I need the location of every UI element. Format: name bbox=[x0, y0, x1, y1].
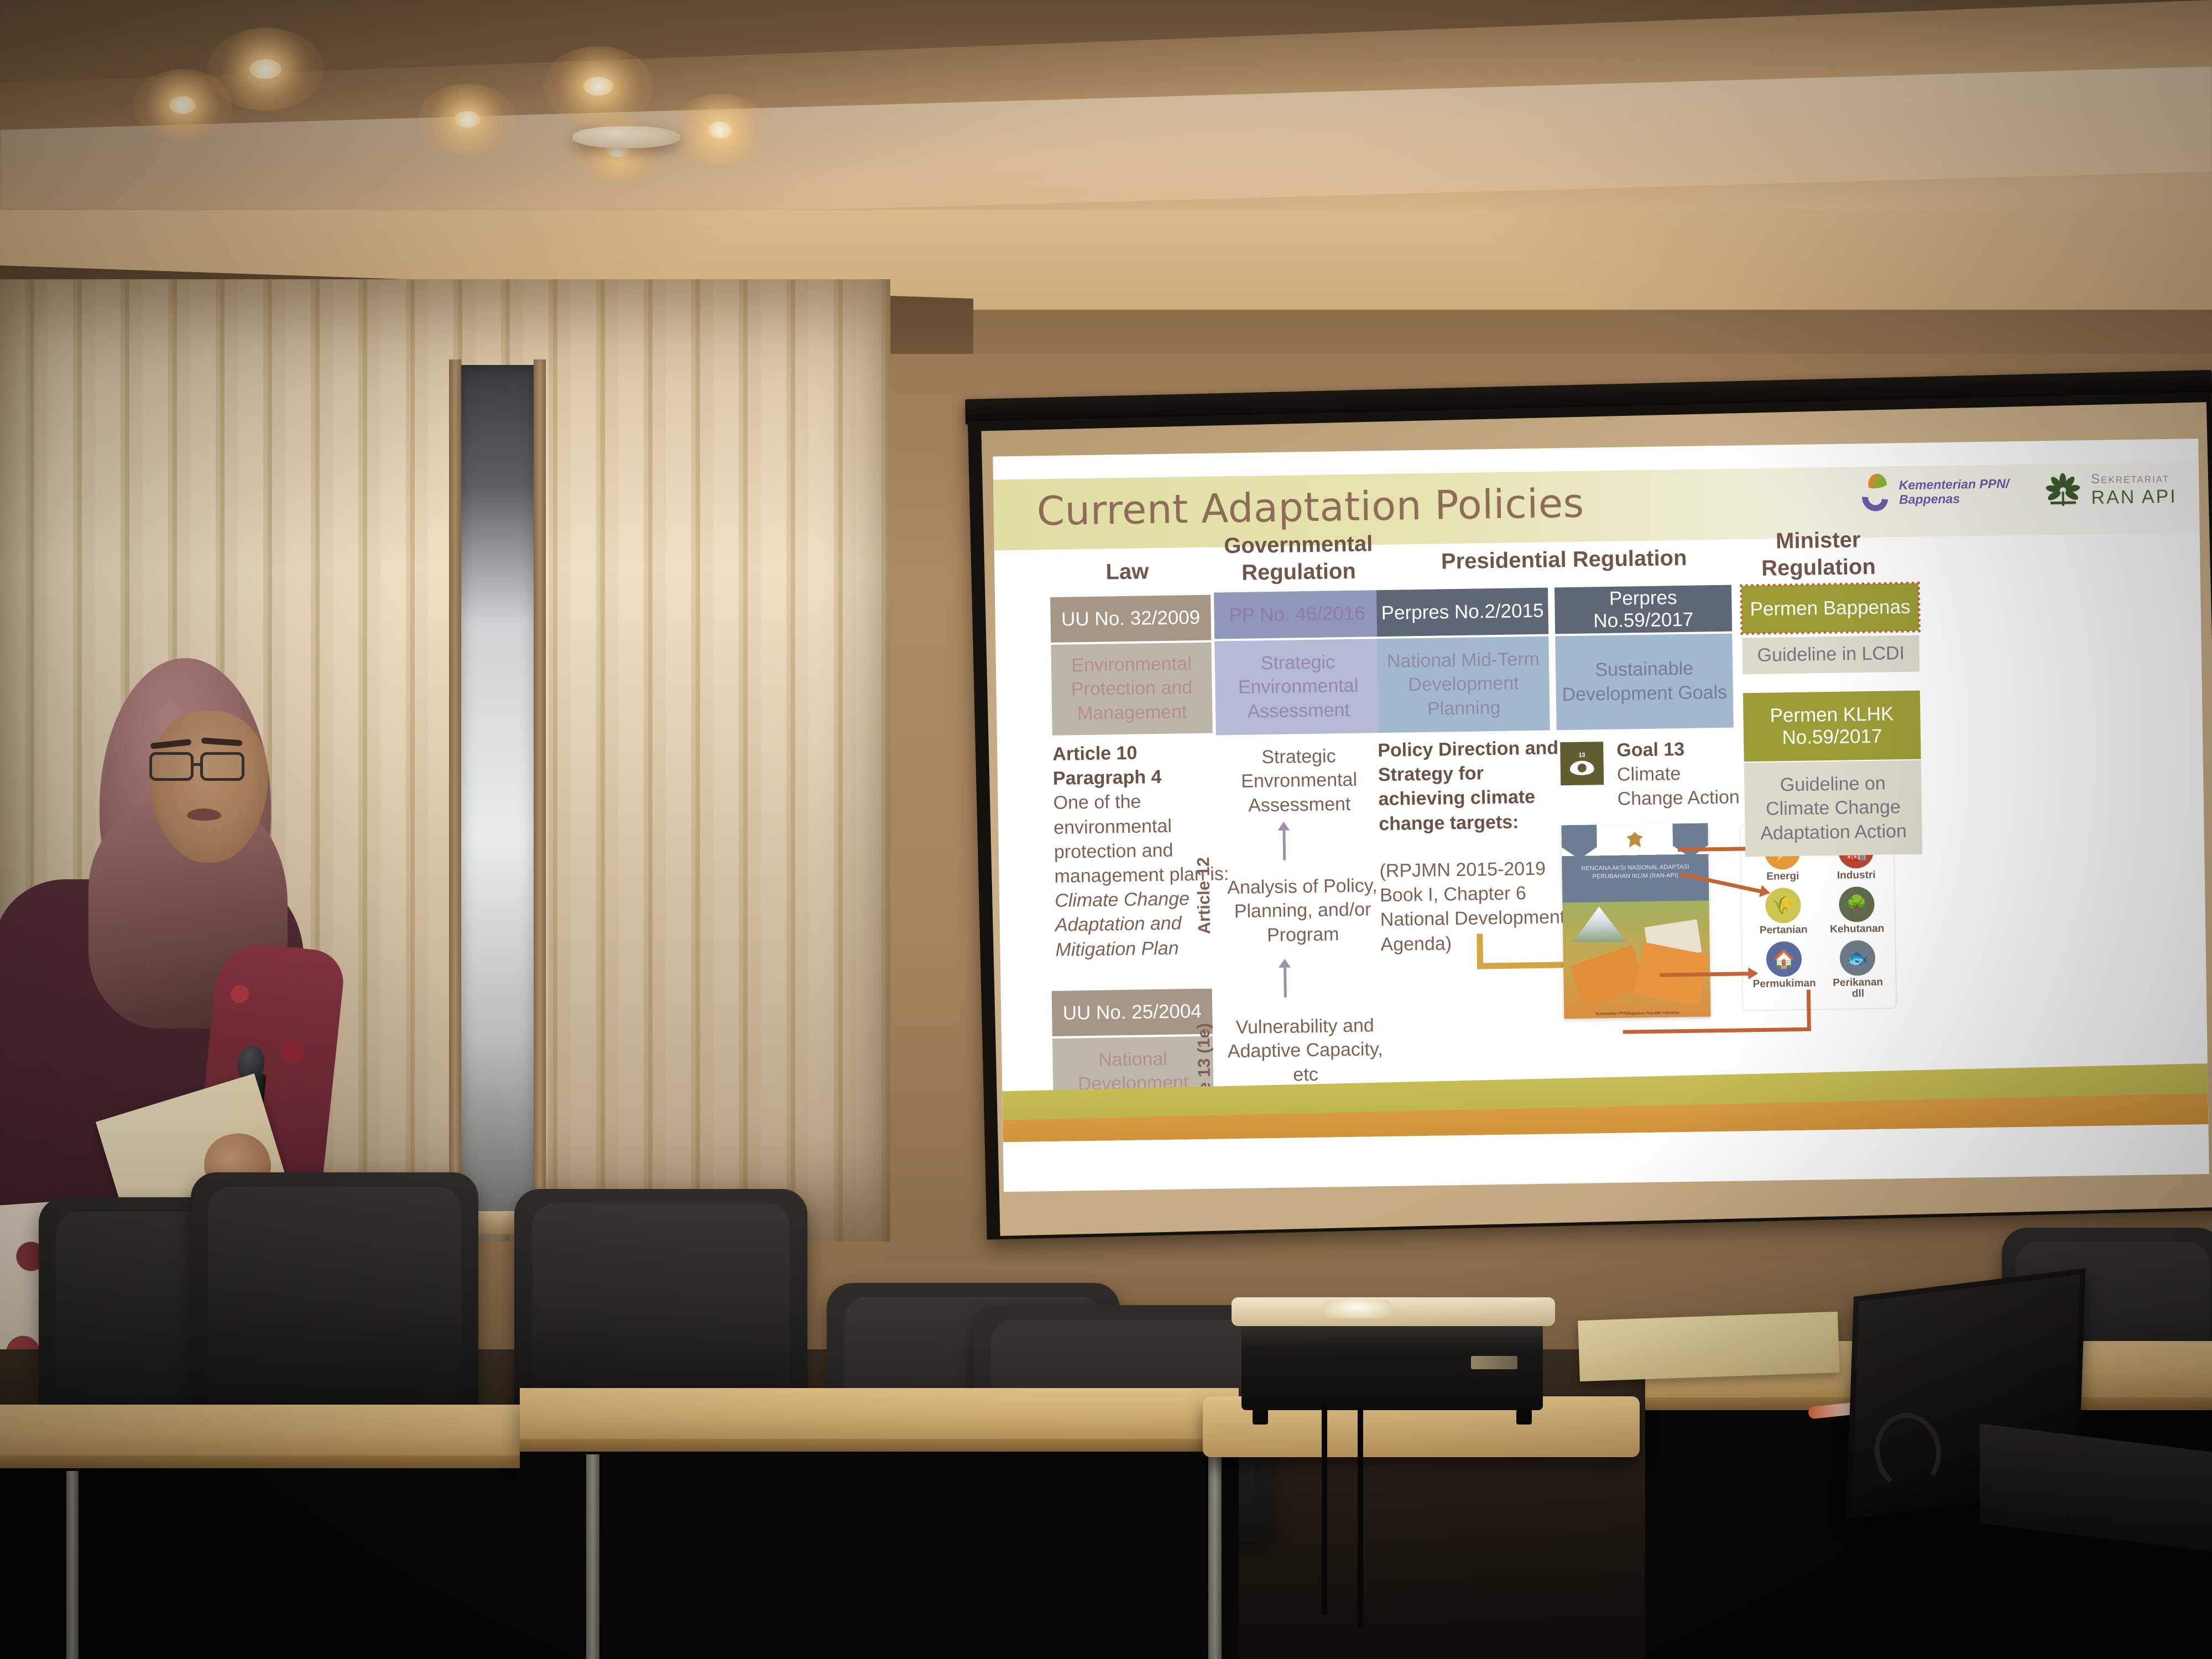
presentation-slide: Current Adaptation Policies Kementerian … bbox=[993, 439, 2209, 1192]
sector-label-permukiman: Permukiman bbox=[1753, 978, 1816, 990]
document-cover-caption: Kementerian PPN/Bappenas Republik Indone… bbox=[1564, 1010, 1710, 1016]
ranapi-logo: Sekretariat RAN API bbox=[2041, 468, 2177, 512]
pres-body-bold: Policy Direction and Strategy for achiev… bbox=[1378, 735, 1562, 836]
table-center bbox=[520, 1388, 1239, 1454]
table-left-underside bbox=[0, 1468, 536, 1659]
chair-2 bbox=[191, 1172, 478, 1416]
pres-sub-1: National Mid-Term Development Planning bbox=[1377, 637, 1550, 733]
sdg-eye-icon bbox=[1570, 760, 1594, 775]
projector-lens bbox=[1324, 1300, 1391, 1318]
wheat-icon: 🌾 bbox=[1765, 888, 1801, 924]
garuda-emblem-icon bbox=[1626, 832, 1643, 847]
column-heading-presidential: Presidential Regulation bbox=[1409, 544, 1719, 576]
bappenas-logo: Kementerian PPN/ Bappenas bbox=[1859, 472, 2009, 513]
sector-label-energi: Energi bbox=[1766, 871, 1799, 883]
sdg-goal13-badge: 13 bbox=[1560, 742, 1604, 785]
gov-sub-1: Strategic Environmental Assessment bbox=[1214, 639, 1381, 735]
law-italic-text: Climate Change Adaptation and Mitigation… bbox=[1055, 888, 1190, 960]
bappenas-logo-line2: Bappenas bbox=[1899, 491, 2010, 507]
projector-cable-1 bbox=[1322, 1405, 1327, 1615]
law-chip-1: UU No. 32/2009 bbox=[1050, 595, 1211, 643]
slide-title: Current Adaptation Policies bbox=[1036, 478, 1700, 534]
sector-label-kehutanan: Kehutanan bbox=[1830, 924, 1884, 935]
sector-label-perikanan: Perikanan dll bbox=[1830, 977, 1886, 999]
table-center-leg-2 bbox=[1208, 1454, 1222, 1659]
projector-vent bbox=[1471, 1356, 1517, 1369]
column-heading-law: Law bbox=[1055, 557, 1199, 587]
projector bbox=[1241, 1316, 1543, 1410]
minister-chip-2: Permen KLHK No.59/2017 bbox=[1743, 691, 1921, 762]
paper-notepad bbox=[1578, 1312, 1840, 1381]
presenter-glasses-right-lens bbox=[200, 752, 244, 781]
sdg-goal-title: Goal 13 bbox=[1616, 739, 1684, 761]
sdg-goal-label: Goal 13 Climate Change Action bbox=[1616, 736, 1761, 811]
presenter-glasses-bridge bbox=[194, 763, 201, 766]
projector-cable-2 bbox=[1358, 1407, 1363, 1629]
slide-logos: Kementerian PPN/ Bappenas bbox=[1859, 468, 2177, 515]
law-paragraph: Paragraph 4 bbox=[1053, 766, 1162, 789]
window-opening bbox=[459, 365, 536, 1228]
window-frame-left bbox=[449, 359, 461, 1239]
sector-label-industri: Industri bbox=[1837, 870, 1876, 881]
projector-foot-right bbox=[1516, 1409, 1532, 1425]
pres-bold-text: Policy Direction and Strategy for achiev… bbox=[1378, 737, 1558, 834]
minister-sub-1: Guideline in LCDI bbox=[1742, 635, 1919, 675]
gov-arrow-up-1 bbox=[1282, 830, 1286, 860]
ranapi-logo-line1: Sekretariat bbox=[2091, 470, 2177, 487]
tree-icon: 🌳 bbox=[1839, 886, 1875, 922]
pres-chip-1: Perpres No.2/2015 bbox=[1376, 588, 1548, 637]
sdg-goal-line1: Climate bbox=[1617, 763, 1681, 785]
red-underline-connector bbox=[1623, 1027, 1811, 1034]
law-chip-2: UU No. 25/2004 bbox=[1052, 989, 1213, 1036]
ceiling-vent bbox=[572, 126, 680, 148]
house-icon: 🏠 bbox=[1766, 941, 1802, 977]
presenter-glasses-left-lens bbox=[149, 752, 194, 781]
pres-chip-2: Perpres No.59/2017 bbox=[1554, 585, 1732, 634]
bappenas-logo-text: Kementerian PPN/ Bappenas bbox=[1899, 477, 2010, 507]
ranapi-logo-line2: RAN API bbox=[2091, 486, 2177, 508]
pres-sub-2: Sustainable Development Goals bbox=[1555, 634, 1733, 731]
table-center-leg-1 bbox=[586, 1454, 599, 1659]
bappenas-logo-line1: Kementerian PPN/ bbox=[1899, 477, 2010, 493]
law-article: Article 10 bbox=[1052, 743, 1138, 765]
projector-foot-left bbox=[1253, 1409, 1268, 1425]
table-left-leg bbox=[66, 1471, 79, 1659]
gov-chip-1: PP No. 46/2016 bbox=[1214, 590, 1380, 639]
gov-label-article-12: Article 12 bbox=[1193, 857, 1214, 935]
window-frame-right bbox=[534, 359, 546, 1239]
slide-body: Law UU No. 32/2009 Environmental Protect… bbox=[994, 533, 2209, 1142]
sector-perikanan: 🐟 Perikanan dll bbox=[1830, 940, 1886, 1000]
sdg-goal-line2: Change Action bbox=[1617, 787, 1740, 810]
minister-sub-2: Guideline on Climate Change Adaptation A… bbox=[1744, 760, 1922, 857]
gov-flow-top: Strategic Envronmental Assessment bbox=[1218, 738, 1380, 823]
bappenas-mark-icon bbox=[1859, 473, 1893, 513]
sector-label-pertanian: Pertanian bbox=[1760, 925, 1808, 936]
screen-surface: Current Adaptation Policies Kementerian … bbox=[981, 402, 2212, 1236]
fish-icon: 🐟 bbox=[1840, 940, 1876, 976]
ranapi-flower-icon bbox=[2041, 469, 2085, 512]
column-heading-governmental: Governmental Regulation bbox=[1215, 530, 1381, 587]
sdg-badge-number: 13 bbox=[1579, 752, 1585, 758]
gov-arrow-up-2 bbox=[1284, 967, 1287, 998]
table-left bbox=[0, 1405, 536, 1471]
presenter-mouth bbox=[187, 808, 221, 821]
ranapi-logo-text: Sekretariat RAN API bbox=[2091, 470, 2177, 508]
table-center-underside bbox=[520, 1452, 1239, 1659]
projection-screen: Current Adaptation Policies Kementerian … bbox=[968, 392, 2212, 1240]
law-sub-1: Environmental Protection and Management bbox=[1051, 643, 1212, 735]
gov-flow-middle: Analysis of Policy, Planning, and/or Pro… bbox=[1219, 865, 1386, 956]
sector-kehutanan: 🌳 Kehutanan bbox=[1829, 886, 1885, 935]
red-arrow-to-permukiman bbox=[1660, 972, 1749, 977]
red-arrow-to-energi bbox=[1678, 847, 1749, 852]
column-heading-minister: Minister Regulation bbox=[1729, 526, 1907, 582]
conference-room-scene: Current Adaptation Policies Kementerian … bbox=[0, 0, 2212, 1659]
minister-chip-1: Permen Bappenas bbox=[1741, 583, 1919, 634]
ranapi-document-cover: RENCANA AKSI NASIONAL ADAPTASI PERUBAHAN… bbox=[1561, 823, 1710, 1019]
red-upline-connector bbox=[1807, 990, 1811, 1030]
